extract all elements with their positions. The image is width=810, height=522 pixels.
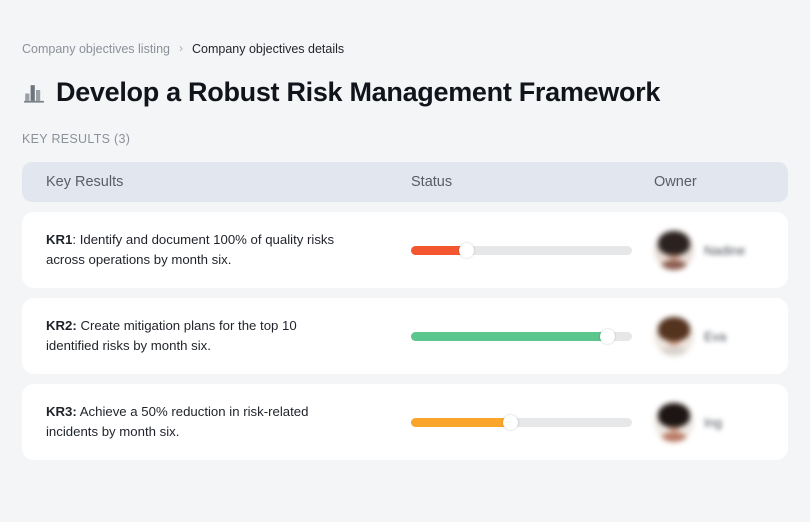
progress-slider[interactable] — [411, 418, 632, 427]
key-result-tag: KR1 — [46, 232, 72, 247]
owner[interactable]: Ing — [654, 402, 810, 442]
owner[interactable]: Nadine — [654, 230, 810, 270]
key-result-tag: KR2: — [46, 318, 77, 333]
table-row[interactable]: KR2: Create mitigation plans for the top… — [22, 298, 788, 374]
avatar-hair — [658, 403, 690, 427]
avatar[interactable] — [654, 230, 694, 270]
avatar-shoulders — [660, 432, 688, 442]
column-header-owner: Owner — [654, 174, 810, 190]
key-result-cell: KR2: Create mitigation plans for the top… — [46, 316, 411, 356]
breadcrumb-current-objective-details: Company objectives details — [192, 40, 344, 58]
table-header-row: Key Results Status Owner — [22, 162, 788, 202]
owner-cell: Nadine — [654, 230, 810, 270]
breadcrumb-link-objectives-listing[interactable]: Company objectives listing — [22, 40, 170, 58]
owner-name: Eva — [704, 329, 726, 344]
avatar[interactable] — [654, 402, 694, 442]
progress-handle[interactable] — [600, 329, 615, 344]
owner-cell: Ing — [654, 402, 810, 442]
progress-slider[interactable] — [411, 246, 632, 255]
owner[interactable]: Eva — [654, 316, 810, 356]
objective-details-page: Company objectives listing › Company obj… — [0, 0, 810, 522]
key-result-description: Identify and document 100% of quality ri… — [46, 232, 334, 267]
key-result-text: KR3: Achieve a 50% reduction in risk-rel… — [46, 402, 346, 442]
progress-handle[interactable] — [459, 243, 474, 258]
progress-fill — [411, 246, 466, 255]
owner-cell: Eva — [654, 316, 810, 356]
column-header-key-results: Key Results — [46, 174, 411, 190]
avatar[interactable] — [654, 316, 694, 356]
status-cell — [411, 332, 654, 341]
key-result-cell: KR1: Identify and document 100% of quali… — [46, 230, 411, 270]
key-result-description: Achieve a 50% reduction in risk-related … — [46, 404, 308, 439]
avatar-hair — [658, 317, 690, 341]
progress-fill — [411, 332, 608, 341]
progress-slider[interactable] — [411, 332, 632, 341]
column-header-status: Status — [411, 174, 654, 190]
page-title-row: Develop a Robust Risk Management Framewo… — [22, 74, 788, 110]
key-result-description: Create mitigation plans for the top 10 i… — [46, 318, 297, 353]
key-result-text: KR1: Identify and document 100% of quali… — [46, 230, 346, 270]
avatar-shoulders — [660, 346, 688, 356]
progress-handle[interactable] — [503, 415, 518, 430]
bar-chart-icon — [22, 81, 46, 105]
chevron-right-icon: › — [179, 42, 183, 54]
page-title: Develop a Robust Risk Management Framewo… — [56, 77, 660, 108]
key-results-section-label: KEY RESULTS (3) — [22, 132, 788, 148]
key-results-table: Key Results Status Owner KR1: Identify a… — [22, 162, 788, 460]
breadcrumb: Company objectives listing › Company obj… — [22, 40, 788, 58]
table-body: KR1: Identify and document 100% of quali… — [22, 212, 788, 460]
status-cell — [411, 418, 654, 427]
progress-fill — [411, 418, 510, 427]
avatar-shoulders — [660, 260, 688, 270]
key-result-cell: KR3: Achieve a 50% reduction in risk-rel… — [46, 402, 411, 442]
key-result-text: KR2: Create mitigation plans for the top… — [46, 316, 346, 356]
owner-name: Ing — [704, 415, 722, 430]
status-cell — [411, 246, 654, 255]
table-row[interactable]: KR3: Achieve a 50% reduction in risk-rel… — [22, 384, 788, 460]
avatar-hair — [658, 231, 690, 255]
table-row[interactable]: KR1: Identify and document 100% of quali… — [22, 212, 788, 288]
owner-name: Nadine — [704, 243, 745, 258]
key-result-tag: KR3: — [46, 404, 77, 419]
